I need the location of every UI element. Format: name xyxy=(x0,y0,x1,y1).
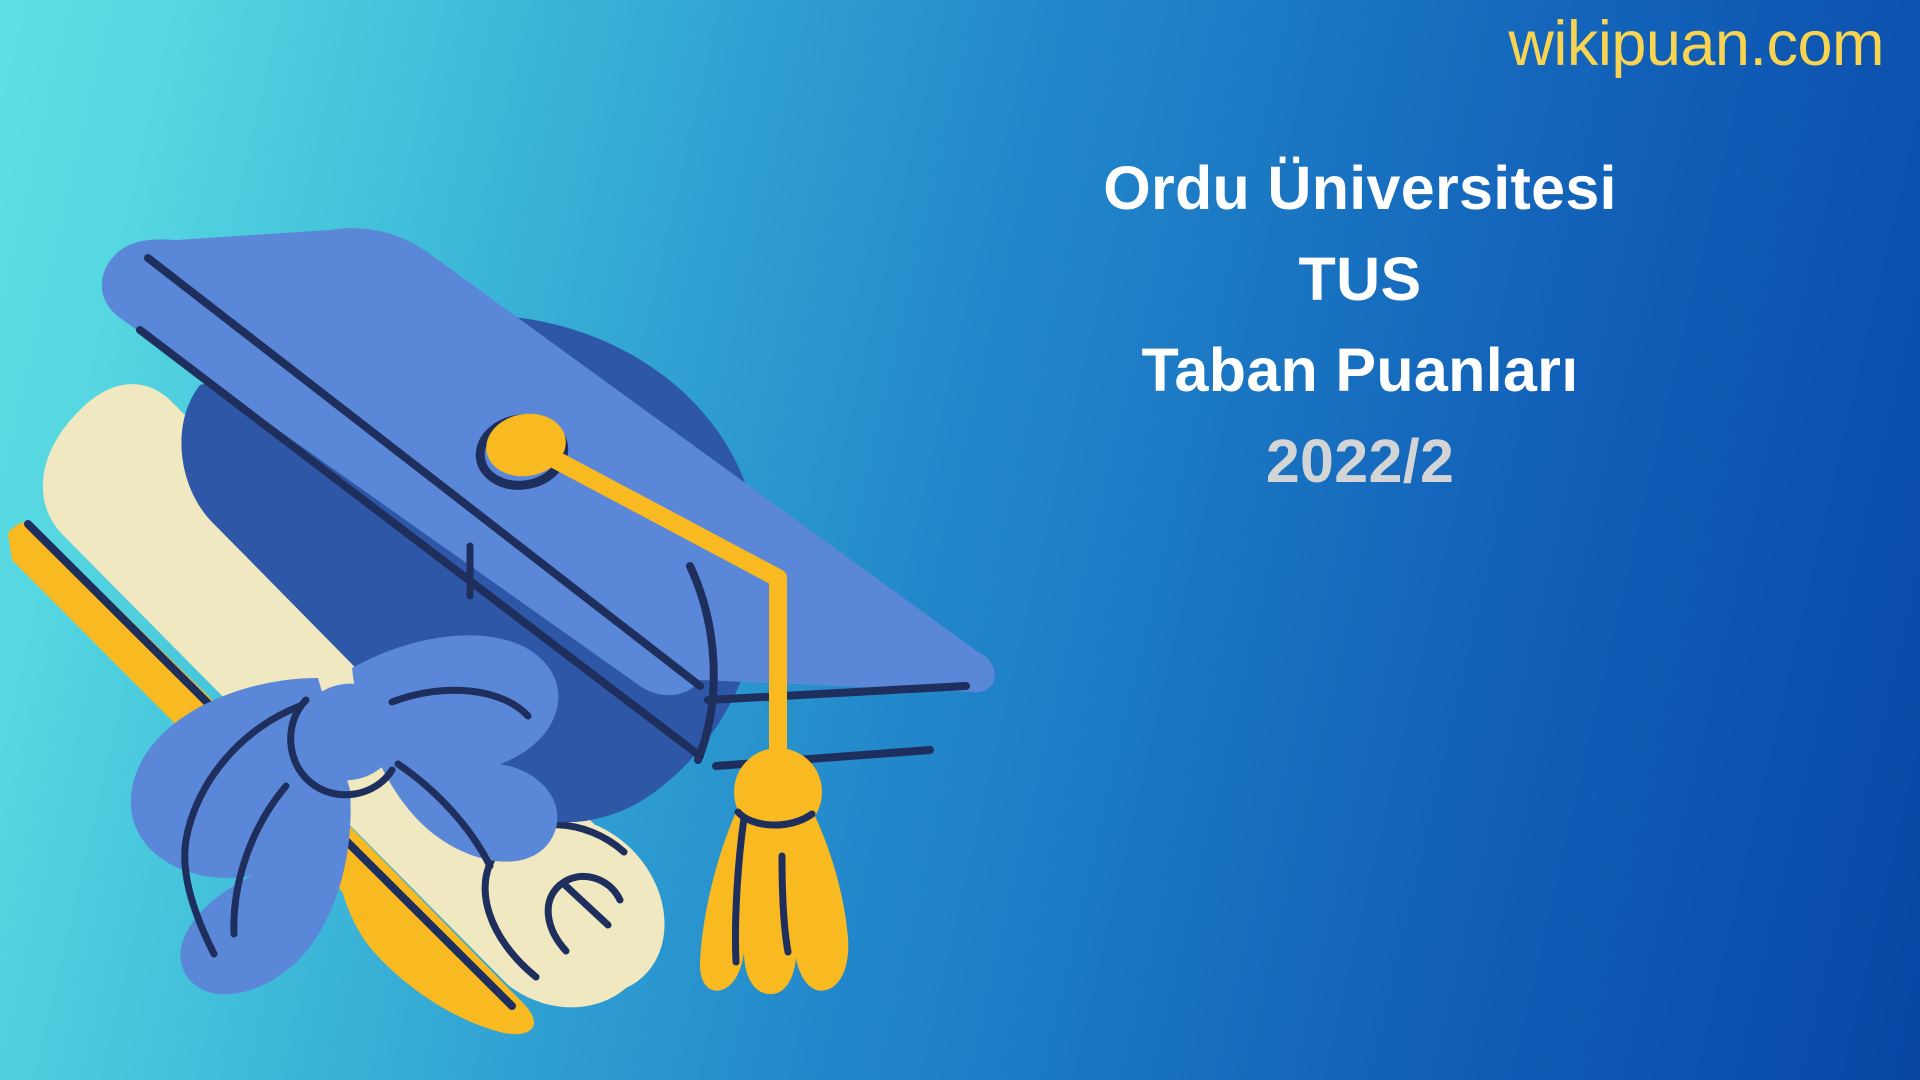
title-line-university: Ordu Üniversitesi xyxy=(985,158,1735,219)
title-line-subject: Taban Puanları xyxy=(985,340,1735,401)
tassel-fringe xyxy=(700,812,848,994)
banner: .navy { fill:none; stroke:#1e2f5e; strok… xyxy=(0,0,1920,1080)
graduation-illustration: .navy { fill:none; stroke:#1e2f5e; strok… xyxy=(0,0,1000,1080)
graduation-cap-diploma-svg: .navy { fill:none; stroke:#1e2f5e; strok… xyxy=(0,0,1000,1080)
title-line-exam: TUS xyxy=(985,249,1735,310)
title-block: Ordu Üniversitesi TUS Taban Puanları 202… xyxy=(985,158,1735,492)
cap-plate-crease-lower xyxy=(708,686,966,700)
title-line-year-term: 2022/2 xyxy=(985,431,1735,492)
watermark-wikipuan: wikipuan.com xyxy=(1508,8,1884,80)
